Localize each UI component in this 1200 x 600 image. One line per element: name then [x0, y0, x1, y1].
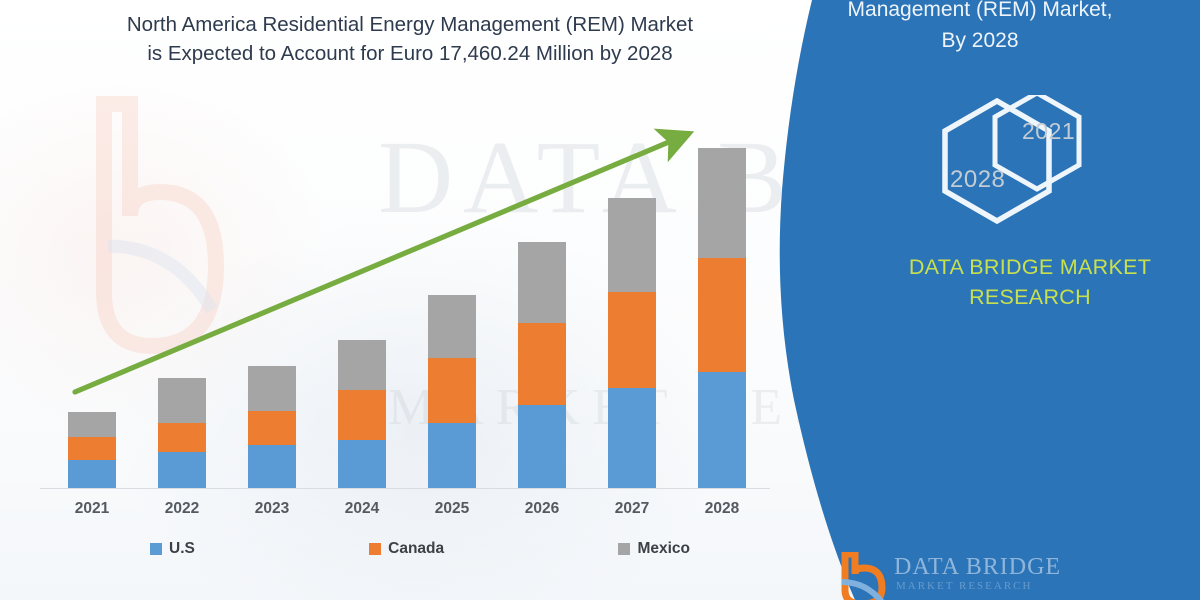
bar-2022[interactable]	[158, 378, 206, 488]
hex-badge-2028-label: 2028	[950, 166, 1005, 194]
legend-label-us: U.S	[169, 540, 195, 558]
bar-segment-us-2027	[608, 388, 656, 488]
legend-swatch-mexico	[618, 543, 630, 555]
bar-2025[interactable]	[428, 295, 476, 488]
footer-logo: DATA BRIDGE MARKET RESEARCH	[838, 552, 1068, 600]
bar-segment-mexico-2027	[608, 198, 656, 292]
x-axis-label-2025: 2025	[407, 500, 497, 518]
x-axis-label-2021: 2021	[47, 500, 137, 518]
panel-title: Management (REM) Market, By 2028	[790, 0, 1170, 56]
bar-2021[interactable]	[68, 412, 116, 488]
bar-segment-canada-2028	[698, 258, 746, 372]
bar-segment-us-2021	[68, 460, 116, 488]
bar-segment-mexico-2025	[428, 295, 476, 358]
chart-legend: U.S Canada Mexico	[150, 540, 690, 558]
legend-label-mexico: Mexico	[637, 540, 690, 558]
axis-baseline	[40, 488, 770, 489]
plot-area: 20212022202320242025202620272028	[0, 0, 800, 600]
dbmr-logo-icon	[838, 552, 888, 600]
bar-segment-canada-2023	[248, 411, 296, 445]
bar-2027[interactable]	[608, 198, 656, 488]
chart-region: DATA BRIDGE MARKET RESEARCH North Americ…	[0, 0, 860, 600]
bar-segment-mexico-2024	[338, 340, 386, 390]
panel-title-line-2: By 2028	[790, 25, 1170, 56]
legend-item-mexico[interactable]: Mexico	[618, 540, 690, 558]
bar-segment-mexico-2021	[68, 412, 116, 437]
bar-segment-us-2022	[158, 452, 206, 488]
panel-title-line-1: Management (REM) Market,	[790, 0, 1170, 25]
x-axis-label-2026: 2026	[497, 500, 587, 518]
bar-segment-canada-2025	[428, 358, 476, 423]
bar-segment-canada-2027	[608, 292, 656, 388]
bar-segment-mexico-2023	[248, 366, 296, 411]
brand-name-line-1: DATA BRIDGE MARKET	[880, 252, 1180, 282]
bar-segment-us-2028	[698, 372, 746, 488]
infographic-canvas: DATA BRIDGE MARKET RESEARCH North Americ…	[0, 0, 1200, 600]
bar-segment-canada-2022	[158, 423, 206, 452]
bar-segment-us-2025	[428, 423, 476, 488]
legend-swatch-us	[150, 543, 162, 555]
bar-segment-us-2023	[248, 445, 296, 488]
bar-segment-us-2026	[518, 405, 566, 488]
bar-2028[interactable]	[698, 148, 746, 488]
footer-logo-subtitle: MARKET RESEARCH	[896, 580, 1032, 592]
bar-segment-canada-2026	[518, 323, 566, 405]
hex-badge-group	[905, 95, 1135, 230]
legend-item-canada[interactable]: Canada	[369, 540, 444, 558]
hex-badge-2021-label: 2021	[1022, 118, 1075, 145]
bar-segment-us-2024	[338, 440, 386, 488]
x-axis-label-2022: 2022	[137, 500, 227, 518]
x-axis-label-2028: 2028	[677, 500, 767, 518]
brand-name-line-2: RESEARCH	[880, 282, 1180, 312]
bar-segment-canada-2024	[338, 390, 386, 440]
bar-2023[interactable]	[248, 366, 296, 488]
bar-2024[interactable]	[338, 340, 386, 488]
bar-segment-mexico-2022	[158, 378, 206, 423]
x-axis-label-2023: 2023	[227, 500, 317, 518]
brand-name: DATA BRIDGE MARKET RESEARCH	[880, 252, 1180, 312]
legend-swatch-canada	[369, 543, 381, 555]
legend-item-us[interactable]: U.S	[150, 540, 195, 558]
bar-segment-mexico-2028	[698, 148, 746, 258]
legend-label-canada: Canada	[388, 540, 444, 558]
bar-segment-canada-2021	[68, 437, 116, 460]
x-axis-label-2027: 2027	[587, 500, 677, 518]
x-axis-label-2024: 2024	[317, 500, 407, 518]
bar-segment-mexico-2026	[518, 242, 566, 323]
bar-2026[interactable]	[518, 242, 566, 488]
footer-logo-name: DATA BRIDGE	[894, 554, 1061, 581]
